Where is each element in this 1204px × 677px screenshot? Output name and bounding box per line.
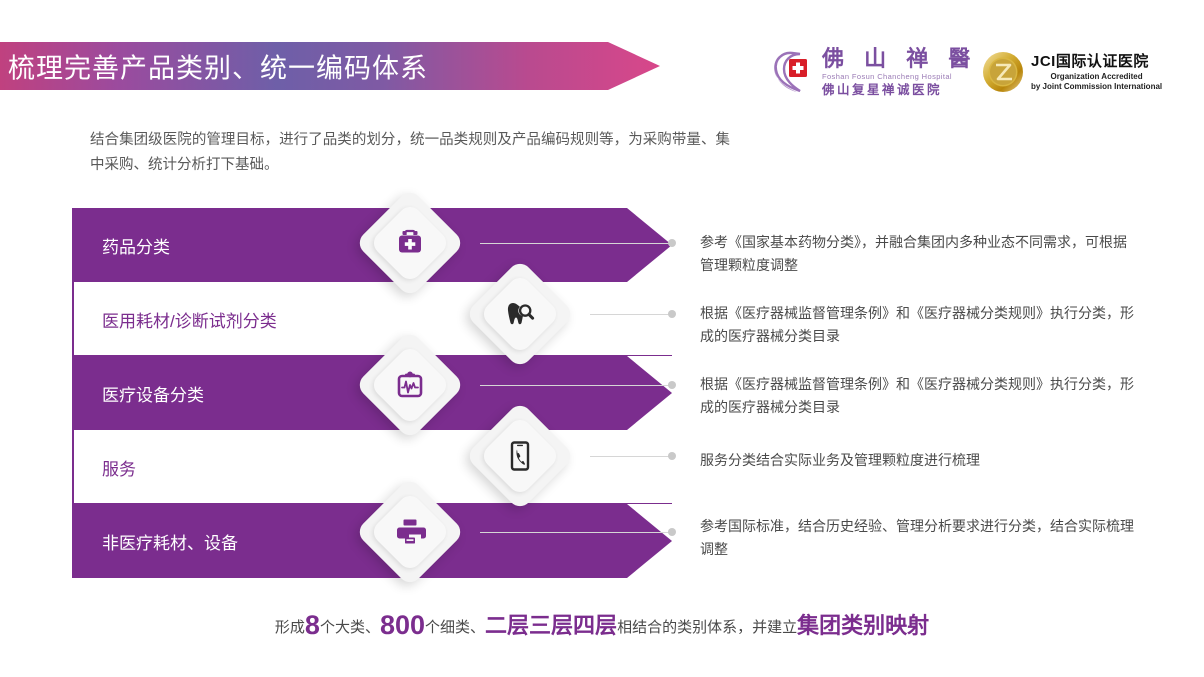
intro-paragraph: 结合集团级医院的管理目标，进行了品类的划分，统一品类规则及产品编码规则等，为采购… <box>90 128 730 179</box>
diamond-card-drug[interactable] <box>355 188 465 298</box>
footer-number-minor: 800 <box>380 610 425 640</box>
hospital-logo: 佛 山 禅 醫 Foshan Fosun Chancheng Hospital … <box>770 44 975 100</box>
description-consumable: 根据《医疗器械监督管理条例》和《医疗器械分类规则》执行分类，形成的医疗器械分类目… <box>700 302 1140 347</box>
connector-line-4 <box>590 456 672 457</box>
diamond-card-nonmedical[interactable] <box>355 477 465 587</box>
connector-dot-3 <box>668 381 676 389</box>
hospital-name-en: Foshan Fosun Chancheng Hospital <box>822 73 977 81</box>
category-label: 非医疗耗材、设备 <box>102 529 238 554</box>
jci-subtitle-2: by Joint Commission International <box>1031 83 1162 91</box>
jci-subtitle-1: Organization Accredited <box>1031 73 1162 81</box>
description-equipment: 根据《医疗器械监督管理条例》和《医疗器械分类规则》执行分类，形成的医疗器械分类目… <box>700 373 1140 418</box>
jci-logo: JCI国际认证医院 Organization Accredited by Joi… <box>982 44 1194 100</box>
description-nonmedical: 参考国际标准，结合历史经验、管理分析要求进行分类，结合实际梳理调整 <box>700 515 1140 560</box>
connector-line-2 <box>590 314 672 315</box>
connector-line-5 <box>480 532 672 533</box>
printer-icon <box>393 515 427 549</box>
ecg-monitor-icon <box>393 368 427 402</box>
tooth-search-icon <box>503 297 537 331</box>
connector-dot-4 <box>668 452 676 460</box>
hospital-name-cn: 佛 山 禅 醫 <box>822 48 977 70</box>
footer-emphasis-layers: 二层三层四层 <box>485 613 617 638</box>
diamond-card-equipment[interactable] <box>355 330 465 440</box>
category-label: 药品分类 <box>102 233 170 258</box>
connector-dot-5 <box>668 528 676 536</box>
first-aid-kit-icon <box>393 226 427 260</box>
header-banner: 梳理完善产品类别、统一编码体系 <box>0 42 660 90</box>
jci-medal-icon <box>982 51 1024 93</box>
footer-number-major: 8 <box>305 610 320 640</box>
footer-seg-3: 个细类、 <box>425 619 485 636</box>
heart-cross-icon <box>770 50 816 94</box>
description-drug: 参考《国家基本药物分类》，并融合集团内多种业态不同需求，可根据管理颗粒度调整 <box>700 231 1140 276</box>
connector-dot-1 <box>668 239 676 247</box>
category-label: 服务 <box>102 455 136 480</box>
diamond-card-consumable[interactable] <box>465 259 575 369</box>
footer-summary: 形成8个大类、800个细类、二层三层四层相结合的类别体系，并建立集团类别映射 <box>0 608 1204 641</box>
description-service: 服务分类结合实际业务及管理颗粒度进行梳理 <box>700 449 1140 472</box>
footer-seg-4: 相结合的类别体系，并建立 <box>617 619 797 636</box>
hospital-name-cn-sub: 佛山复星禅诚医院 <box>822 84 977 97</box>
jci-title: JCI国际认证医院 <box>1031 54 1162 69</box>
connector-line-1 <box>480 243 672 244</box>
jci-logo-texts: JCI国际认证医院 Organization Accredited by Joi… <box>1031 54 1162 91</box>
category-label: 医疗设备分类 <box>102 381 204 406</box>
connector-dot-2 <box>668 310 676 318</box>
category-label: 医用耗材/诊断试剂分类 <box>102 307 277 332</box>
footer-seg-2: 个大类、 <box>320 619 380 636</box>
page-title: 梳理完善产品类别、统一编码体系 <box>8 47 428 86</box>
diamond-card-service[interactable] <box>465 401 575 511</box>
footer-seg-1: 形成 <box>275 619 305 636</box>
footer-emphasis-mapping: 集团类别映射 <box>797 613 929 638</box>
connector-line-3 <box>480 385 672 386</box>
mobile-phone-call-icon <box>503 439 537 473</box>
hospital-logo-texts: 佛 山 禅 醫 Foshan Fosun Chancheng Hospital … <box>822 48 977 96</box>
